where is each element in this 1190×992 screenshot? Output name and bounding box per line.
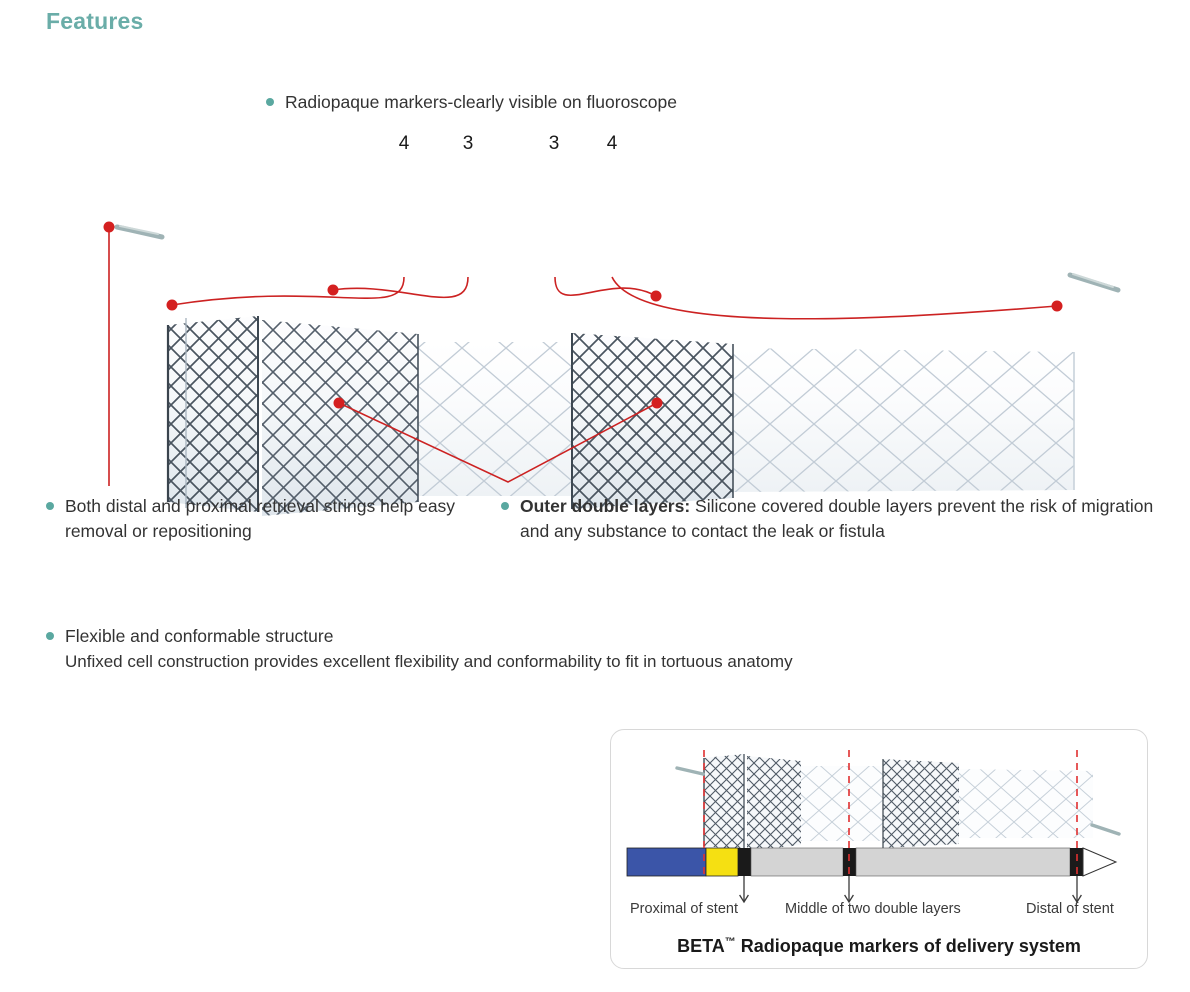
segment-shaft-2	[856, 848, 1070, 876]
bullet-outer-double-layers: Outer double layers: Silicone covered do…	[501, 494, 1161, 544]
panel-double-layer-proximal-outer	[740, 749, 810, 857]
delivery-system-panel	[610, 729, 1148, 969]
delivery-panel-caption: BETA™ Radiopaque markers of delivery sys…	[610, 936, 1148, 957]
label-middle-of-two-double-layers: Middle of two double layers	[785, 901, 961, 917]
label-proximal-of-stent: Proximal of stent	[630, 901, 738, 917]
bullet-outer-text: Outer double layers: Silicone covered do…	[520, 494, 1161, 544]
stent-double-layer-distal	[560, 320, 750, 520]
segment-blue-handle	[627, 848, 706, 876]
callout-number-3-right: 3	[543, 133, 565, 155]
segment-yellow-band	[706, 848, 738, 876]
bullet-dot-icon	[46, 632, 54, 640]
callout-number-3-left: 3	[457, 133, 479, 155]
caption-rest: Radiopaque markers of delivery system	[736, 936, 1081, 956]
bullet-retrieval-strings: Both distal and proximal retrieval strin…	[46, 494, 466, 544]
stent-proximal-flare	[156, 305, 276, 520]
label-distal-of-stent: Distal of stent	[1026, 901, 1114, 917]
bullet-flexible-text: Flexible and conformable structureUnfixe…	[65, 624, 793, 674]
callout-number-4-left: 4	[393, 133, 415, 155]
delivery-catheter-bar	[627, 848, 1116, 876]
page-title: Features	[46, 8, 143, 35]
marker-dot-retrieval-proximal	[104, 222, 115, 233]
marker-dot-3-right	[651, 291, 662, 302]
panel-stent-middle-body	[794, 759, 892, 849]
catheter-tip	[1083, 848, 1116, 876]
panel-proximal-flare	[697, 747, 752, 857]
bullet-outer-lead: Outer double layers:	[520, 496, 690, 516]
bullet-radiopaque-text: Radiopaque markers-clearly visible on fl…	[285, 90, 677, 115]
callout-number-4-right: 4	[601, 133, 623, 155]
caption-brand: BETA	[677, 936, 725, 956]
retrieval-string-distal	[1070, 274, 1118, 290]
marker-dot-layer-left	[334, 398, 345, 409]
segment-shaft-1	[751, 848, 843, 876]
callout-leader-lines	[172, 277, 1057, 319]
marker-dot-4-left	[167, 300, 178, 311]
stent-distal-body	[720, 335, 1100, 510]
stent-illustration	[0, 120, 1190, 520]
marker-dot-3-left	[328, 285, 339, 296]
marker-proximal	[738, 848, 751, 876]
marker-dot-layer-right	[652, 398, 663, 409]
bullet-flexible-title: Flexible and conformable structure	[65, 626, 333, 646]
bullet-dot-icon	[266, 98, 274, 106]
stent-middle-body	[405, 330, 595, 510]
delivery-system-diagram	[611, 730, 1149, 970]
panel-double-layer-distal	[876, 752, 968, 856]
retrieval-string-proximal	[117, 226, 162, 237]
bullet-radiopaque-markers: Radiopaque markers-clearly visible on fl…	[266, 90, 677, 115]
trademark-icon: ™	[725, 936, 736, 948]
bullet-flexible-subtitle: Unfixed cell construction provides excel…	[65, 649, 793, 674]
stent-double-layer-proximal-outer	[250, 308, 435, 520]
panel-stent-distal-body	[951, 762, 1106, 847]
bullet-flexible-structure: Flexible and conformable structureUnfixe…	[46, 624, 1046, 674]
bullet-dot-icon	[501, 502, 509, 510]
bullet-retrieval-text: Both distal and proximal retrieval strin…	[65, 494, 466, 544]
marker-callout-arrows	[740, 876, 1082, 902]
marker-dot-4-right	[1052, 301, 1063, 312]
bullet-dot-icon	[46, 502, 54, 510]
